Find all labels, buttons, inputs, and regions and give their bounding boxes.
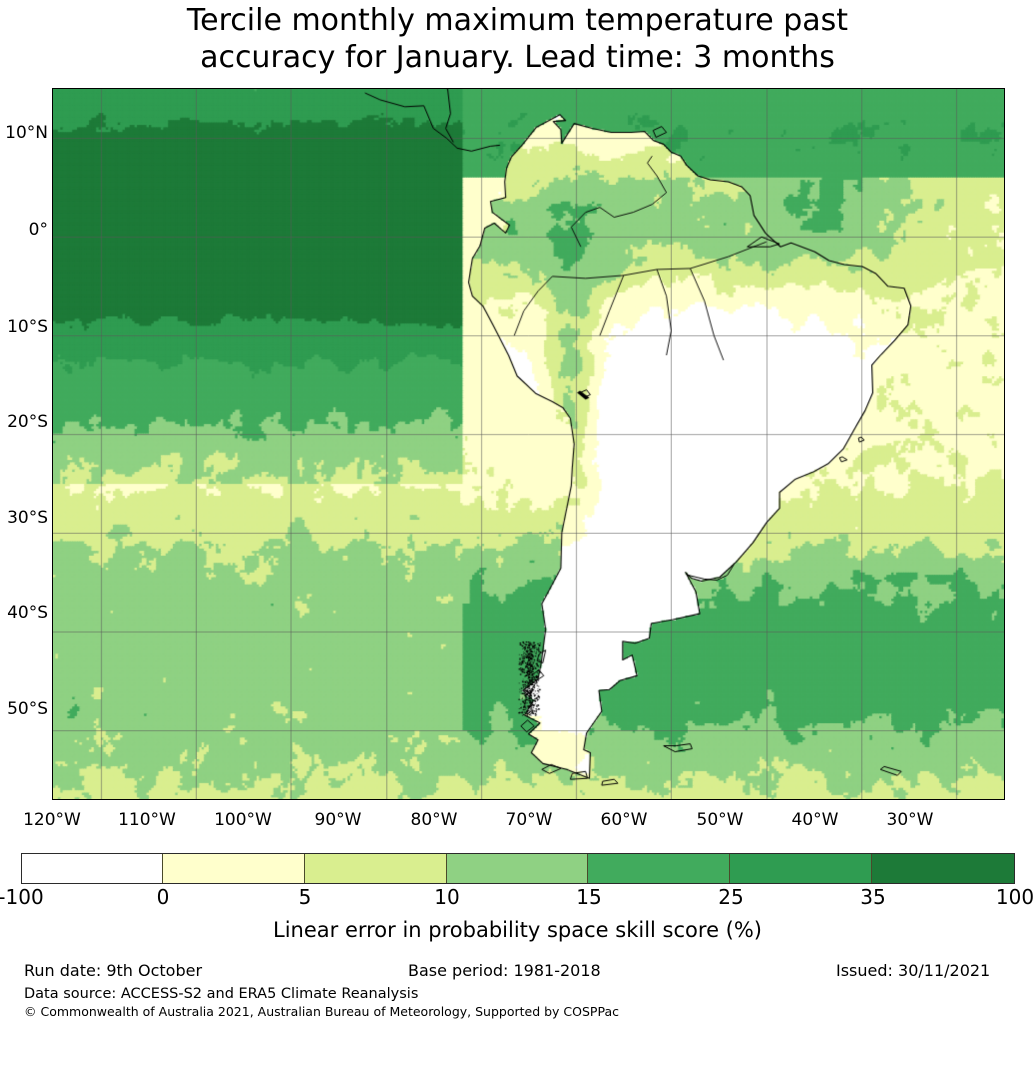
colorbar-segment-6 bbox=[872, 854, 1014, 883]
skill-score-heatmap bbox=[53, 89, 1004, 799]
x-tick--60: 60°W bbox=[579, 812, 669, 829]
x-tick--40: 40°W bbox=[770, 812, 860, 829]
title-line-2: accuracy for January. Lead time: 3 month… bbox=[0, 39, 1035, 76]
colorbar[interactable] bbox=[21, 853, 1015, 884]
colorbar-tick-10: 10 bbox=[387, 887, 507, 907]
colorbar-tick-100: 100 bbox=[955, 887, 1035, 907]
y-tick--40: 40°S bbox=[0, 605, 48, 622]
colorbar-segment-5 bbox=[730, 854, 872, 883]
colorbar-tick--100: -100 bbox=[0, 887, 81, 907]
x-tick--70: 70°W bbox=[484, 812, 574, 829]
y-tick--30: 30°S bbox=[0, 510, 48, 527]
x-tick--30: 30°W bbox=[865, 812, 955, 829]
y-tick--50: 50°S bbox=[0, 701, 48, 718]
footer-issued-date: Issued: 30/11/2021 bbox=[836, 962, 990, 980]
footer-row: Run date: 9th October Base period: 1981-… bbox=[0, 962, 1035, 984]
colorbar-tick-5: 5 bbox=[245, 887, 365, 907]
footer-copyright: © Commonwealth of Australia 2021, Austra… bbox=[24, 1005, 619, 1019]
colorbar-tick-15: 15 bbox=[529, 887, 649, 907]
x-tick--120: 120°W bbox=[7, 812, 97, 829]
map-plot-area[interactable] bbox=[52, 88, 1005, 800]
page-title: Tercile monthly maximum temperature past… bbox=[0, 2, 1035, 76]
colorbar-segment-4 bbox=[588, 854, 730, 883]
colorbar-label: Linear error in probability space skill … bbox=[0, 918, 1035, 942]
footer-run-date: Run date: 9th October bbox=[24, 962, 202, 980]
y-tick--20: 20°S bbox=[0, 414, 48, 431]
footer-base-period: Base period: 1981-2018 bbox=[408, 962, 601, 980]
colorbar-tick-35: 35 bbox=[813, 887, 933, 907]
footer-data-source: Data source: ACCESS-S2 and ERA5 Climate … bbox=[24, 986, 418, 1002]
colorbar-segment-3 bbox=[447, 854, 589, 883]
x-tick--90: 90°W bbox=[293, 812, 383, 829]
colorbar-segment-1 bbox=[163, 854, 305, 883]
colorbar-tick-0: 0 bbox=[103, 887, 223, 907]
title-line-1: Tercile monthly maximum temperature past bbox=[0, 2, 1035, 39]
y-tick--10: 10°S bbox=[0, 319, 48, 336]
y-tick-10: 10°N bbox=[0, 125, 48, 142]
colorbar-segment-2 bbox=[305, 854, 447, 883]
x-tick--50: 50°W bbox=[675, 812, 765, 829]
y-tick-0: 0° bbox=[0, 222, 48, 239]
colorbar-tick-25: 25 bbox=[671, 887, 791, 907]
x-tick--110: 110°W bbox=[102, 812, 192, 829]
colorbar-segment-0 bbox=[22, 854, 163, 883]
x-tick--100: 100°W bbox=[198, 812, 288, 829]
x-tick--80: 80°W bbox=[389, 812, 479, 829]
